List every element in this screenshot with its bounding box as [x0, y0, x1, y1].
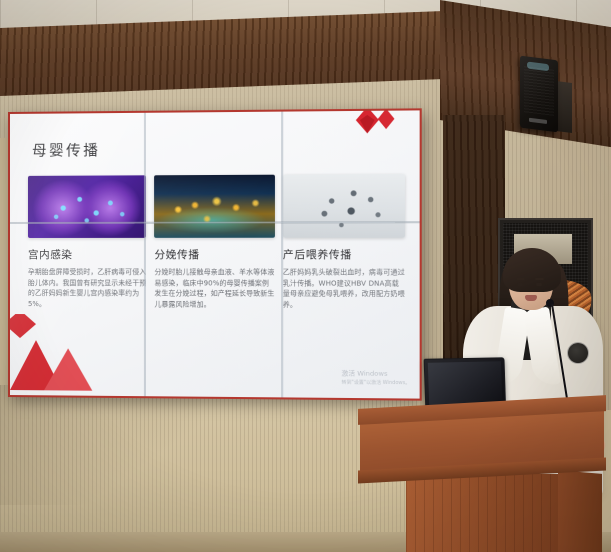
wall-shadow — [0, 385, 200, 505]
column-heading: 分娩传播 — [154, 247, 274, 262]
column-body-text: 孕期胎盘屏障受损时，乙肝病毒可侵入胎儿体内。我国曾有研究显示未经干预的乙肝妈妈新… — [28, 267, 146, 310]
lectern-body — [406, 474, 566, 552]
molecular-network-diagram-image — [283, 174, 405, 238]
column-heading: 产后喂养传播 — [283, 247, 405, 262]
videowall-seam-vertical — [281, 112, 283, 398]
lectern-body-side — [558, 470, 602, 552]
slide-columns: 宫内感染 孕期胎盘屏障受损时，乙肝病毒可侵入胎儿体内。我国曾有研究显示未经干预的… — [28, 174, 405, 311]
eye-right — [536, 283, 542, 286]
column-heading: 宫内感染 — [28, 247, 146, 262]
lectern — [358, 402, 606, 552]
slide-column[interactable]: 产后喂养传播 乙肝妈妈乳头破裂出血时，病毒可通过乳汁传播。WHO建议HBV DN… — [283, 174, 405, 311]
mouth — [525, 295, 537, 301]
red-diamond-logo-icon — [353, 111, 401, 147]
windows-activation-watermark: 激活 Windows 转到"设置"以激活 Windows。 — [342, 367, 411, 386]
wall-speaker-icon — [520, 56, 558, 133]
column-body-text: 乙肝妈妈乳头破裂出血时，病毒可通过乳汁传播。WHO建议HBV DNA高载量母亲应… — [283, 267, 405, 311]
slide-column[interactable]: 宫内感染 孕期胎盘屏障受损时，乙肝病毒可侵入胎儿体内。我国曾有研究显示未经干预的… — [28, 175, 146, 310]
slide-title: 母婴传播 — [32, 139, 100, 161]
eyebrow-left — [516, 278, 525, 280]
sleeve-badge — [567, 342, 589, 364]
eyebrow-right — [535, 278, 544, 280]
eye-left — [517, 283, 523, 286]
speaker-brand-logo — [529, 118, 547, 124]
presentation-slide[interactable]: 母婴传播 宫内感染 孕期胎盘屏障受损时，乙肝病毒可侵入胎儿体内。我国曾有研究显示… — [10, 110, 420, 398]
videowall-seam-vertical — [144, 113, 146, 396]
watermark-line-2: 转到"设置"以激活 Windows。 — [342, 379, 411, 387]
speaker-mount-bracket — [556, 81, 572, 133]
speaker-grill — [524, 66, 554, 116]
conference-room-scene: 母婴传播 宫内感染 孕期胎盘屏障受损时，乙肝病毒可侵入胎儿体内。我国曾有研究显示… — [0, 0, 611, 552]
red-triangle-decoration — [10, 314, 121, 396]
video-wall[interactable]: 母婴传播 宫内感染 孕期胎盘屏障受损时，乙肝病毒可侵入胎儿体内。我国曾有研究显示… — [8, 108, 422, 400]
hair-top — [503, 248, 561, 292]
column-body-text: 分娩时胎儿接触母亲血液、羊水等体液易感染，临床中90%的母婴传播案例发生在分娩过… — [154, 267, 274, 311]
slide-column[interactable]: 分娩传播 分娩时胎儿接触母亲血液、羊水等体液易感染，临床中90%的母婴传播案例发… — [154, 175, 274, 311]
virus-cell-micrograph-image — [28, 175, 146, 238]
night-city-river-lights-image — [154, 175, 274, 238]
watermark-line-1: 激活 Windows — [342, 367, 411, 378]
